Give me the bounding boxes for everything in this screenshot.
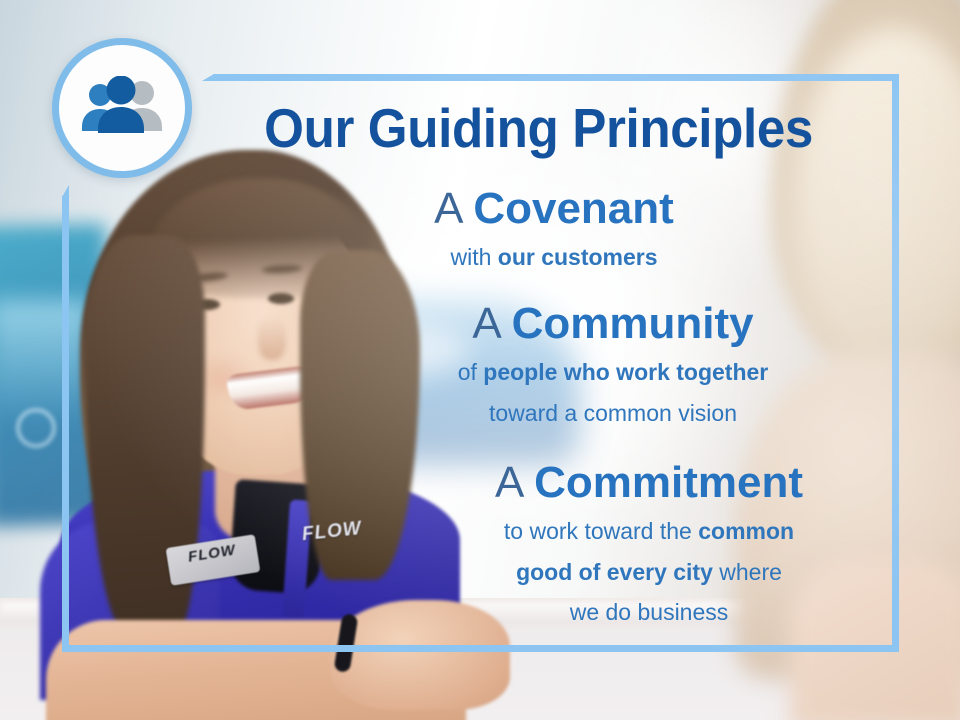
principle-heading: A Community [266, 301, 960, 347]
principle-detail-line: toward a common vision [266, 399, 960, 428]
principle-detail-line: with our customers [148, 243, 960, 272]
principle-detail-line: of people who work together [266, 358, 960, 387]
page-title: Our Guiding Principles [34, 96, 927, 160]
principle-detail-line: we do business [338, 598, 960, 627]
frame-border-bottom [62, 645, 899, 652]
detail-segment: with [450, 244, 497, 270]
detail-segment: we do business [570, 599, 729, 625]
detail-segment: our customers [498, 244, 658, 270]
principle-keyword: Covenant [473, 184, 673, 233]
detail-segment: good of every city [516, 559, 713, 585]
principle-block-covenant: A Covenant with our customers [0, 186, 960, 273]
detail-segment: common [698, 518, 794, 544]
principle-keyword: Commitment [534, 458, 803, 507]
principle-article: A [495, 458, 522, 507]
marketing-graphic: FLOW FLOW [0, 0, 960, 720]
detail-segment: to work toward the [504, 518, 698, 544]
principle-article: A [472, 299, 499, 348]
principle-detail-line: good of every city where [338, 558, 960, 587]
principle-heading: A Covenant [148, 186, 960, 232]
detail-segment: of [458, 359, 484, 385]
principle-heading: A Commitment [338, 460, 960, 506]
principle-detail-line: to work toward the common [338, 517, 960, 546]
principle-article: A [434, 184, 461, 233]
detail-segment: where [713, 559, 782, 585]
principle-keyword: Community [512, 299, 754, 348]
principle-block-community: A Community of people who work together … [0, 301, 960, 428]
principle-block-commitment: A Commitment to work toward the common g… [0, 460, 960, 628]
detail-segment: toward a common vision [489, 400, 737, 426]
frame-border-top [213, 74, 899, 81]
detail-segment: people who work together [483, 359, 768, 385]
